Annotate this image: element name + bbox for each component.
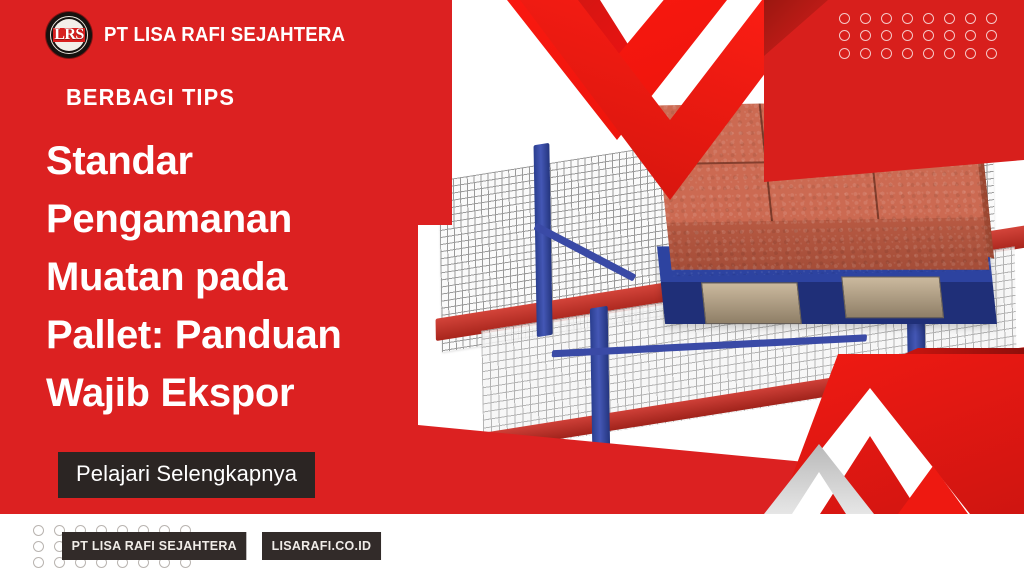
headline-line-3: Muatan pada (46, 248, 426, 306)
promo-banner: LRS PT LISA RAFI SEJAHTERA BERBAGI TIPS … (0, 0, 1024, 576)
headline-line-1: Standar (46, 132, 426, 190)
top-right-red-band (764, 0, 1024, 182)
company-name: PT LISA RAFI SEJAHTERA (104, 24, 345, 47)
corner-accent (764, 0, 828, 56)
footer-badges: PT LISA RAFI SEJAHTERA LISARAFI.CO.ID (62, 532, 386, 560)
logo-monogram: LRS (54, 26, 84, 44)
company-logo-icon[interactable]: LRS (46, 12, 92, 58)
headline-line-5: Wajib Ekspor (46, 364, 426, 422)
headline-line-2: Pengamanan (46, 190, 426, 248)
page-title: Standar Pengamanan Muatan pada Pallet: P… (46, 132, 426, 422)
headline-line-4: Pallet: Panduan (46, 306, 426, 364)
pallet-fork-opening (701, 282, 802, 324)
brand-header[interactable]: LRS PT LISA RAFI SEJAHTERA (46, 12, 363, 58)
kicker-label: BERBAGI TIPS (66, 84, 235, 111)
pallet-fork-opening (841, 277, 944, 319)
learn-more-button[interactable]: Pelajari Selengkapnya (58, 452, 315, 498)
footer-company-badge: PT LISA RAFI SEJAHTERA (62, 532, 247, 560)
rack-upright (534, 143, 553, 337)
footer: PT LISA RAFI SEJAHTERA LISARAFI.CO.ID (0, 514, 1024, 576)
dot-grid-decoration (834, 10, 1002, 62)
footer-website-badge[interactable]: LISARAFI.CO.ID (262, 532, 381, 560)
